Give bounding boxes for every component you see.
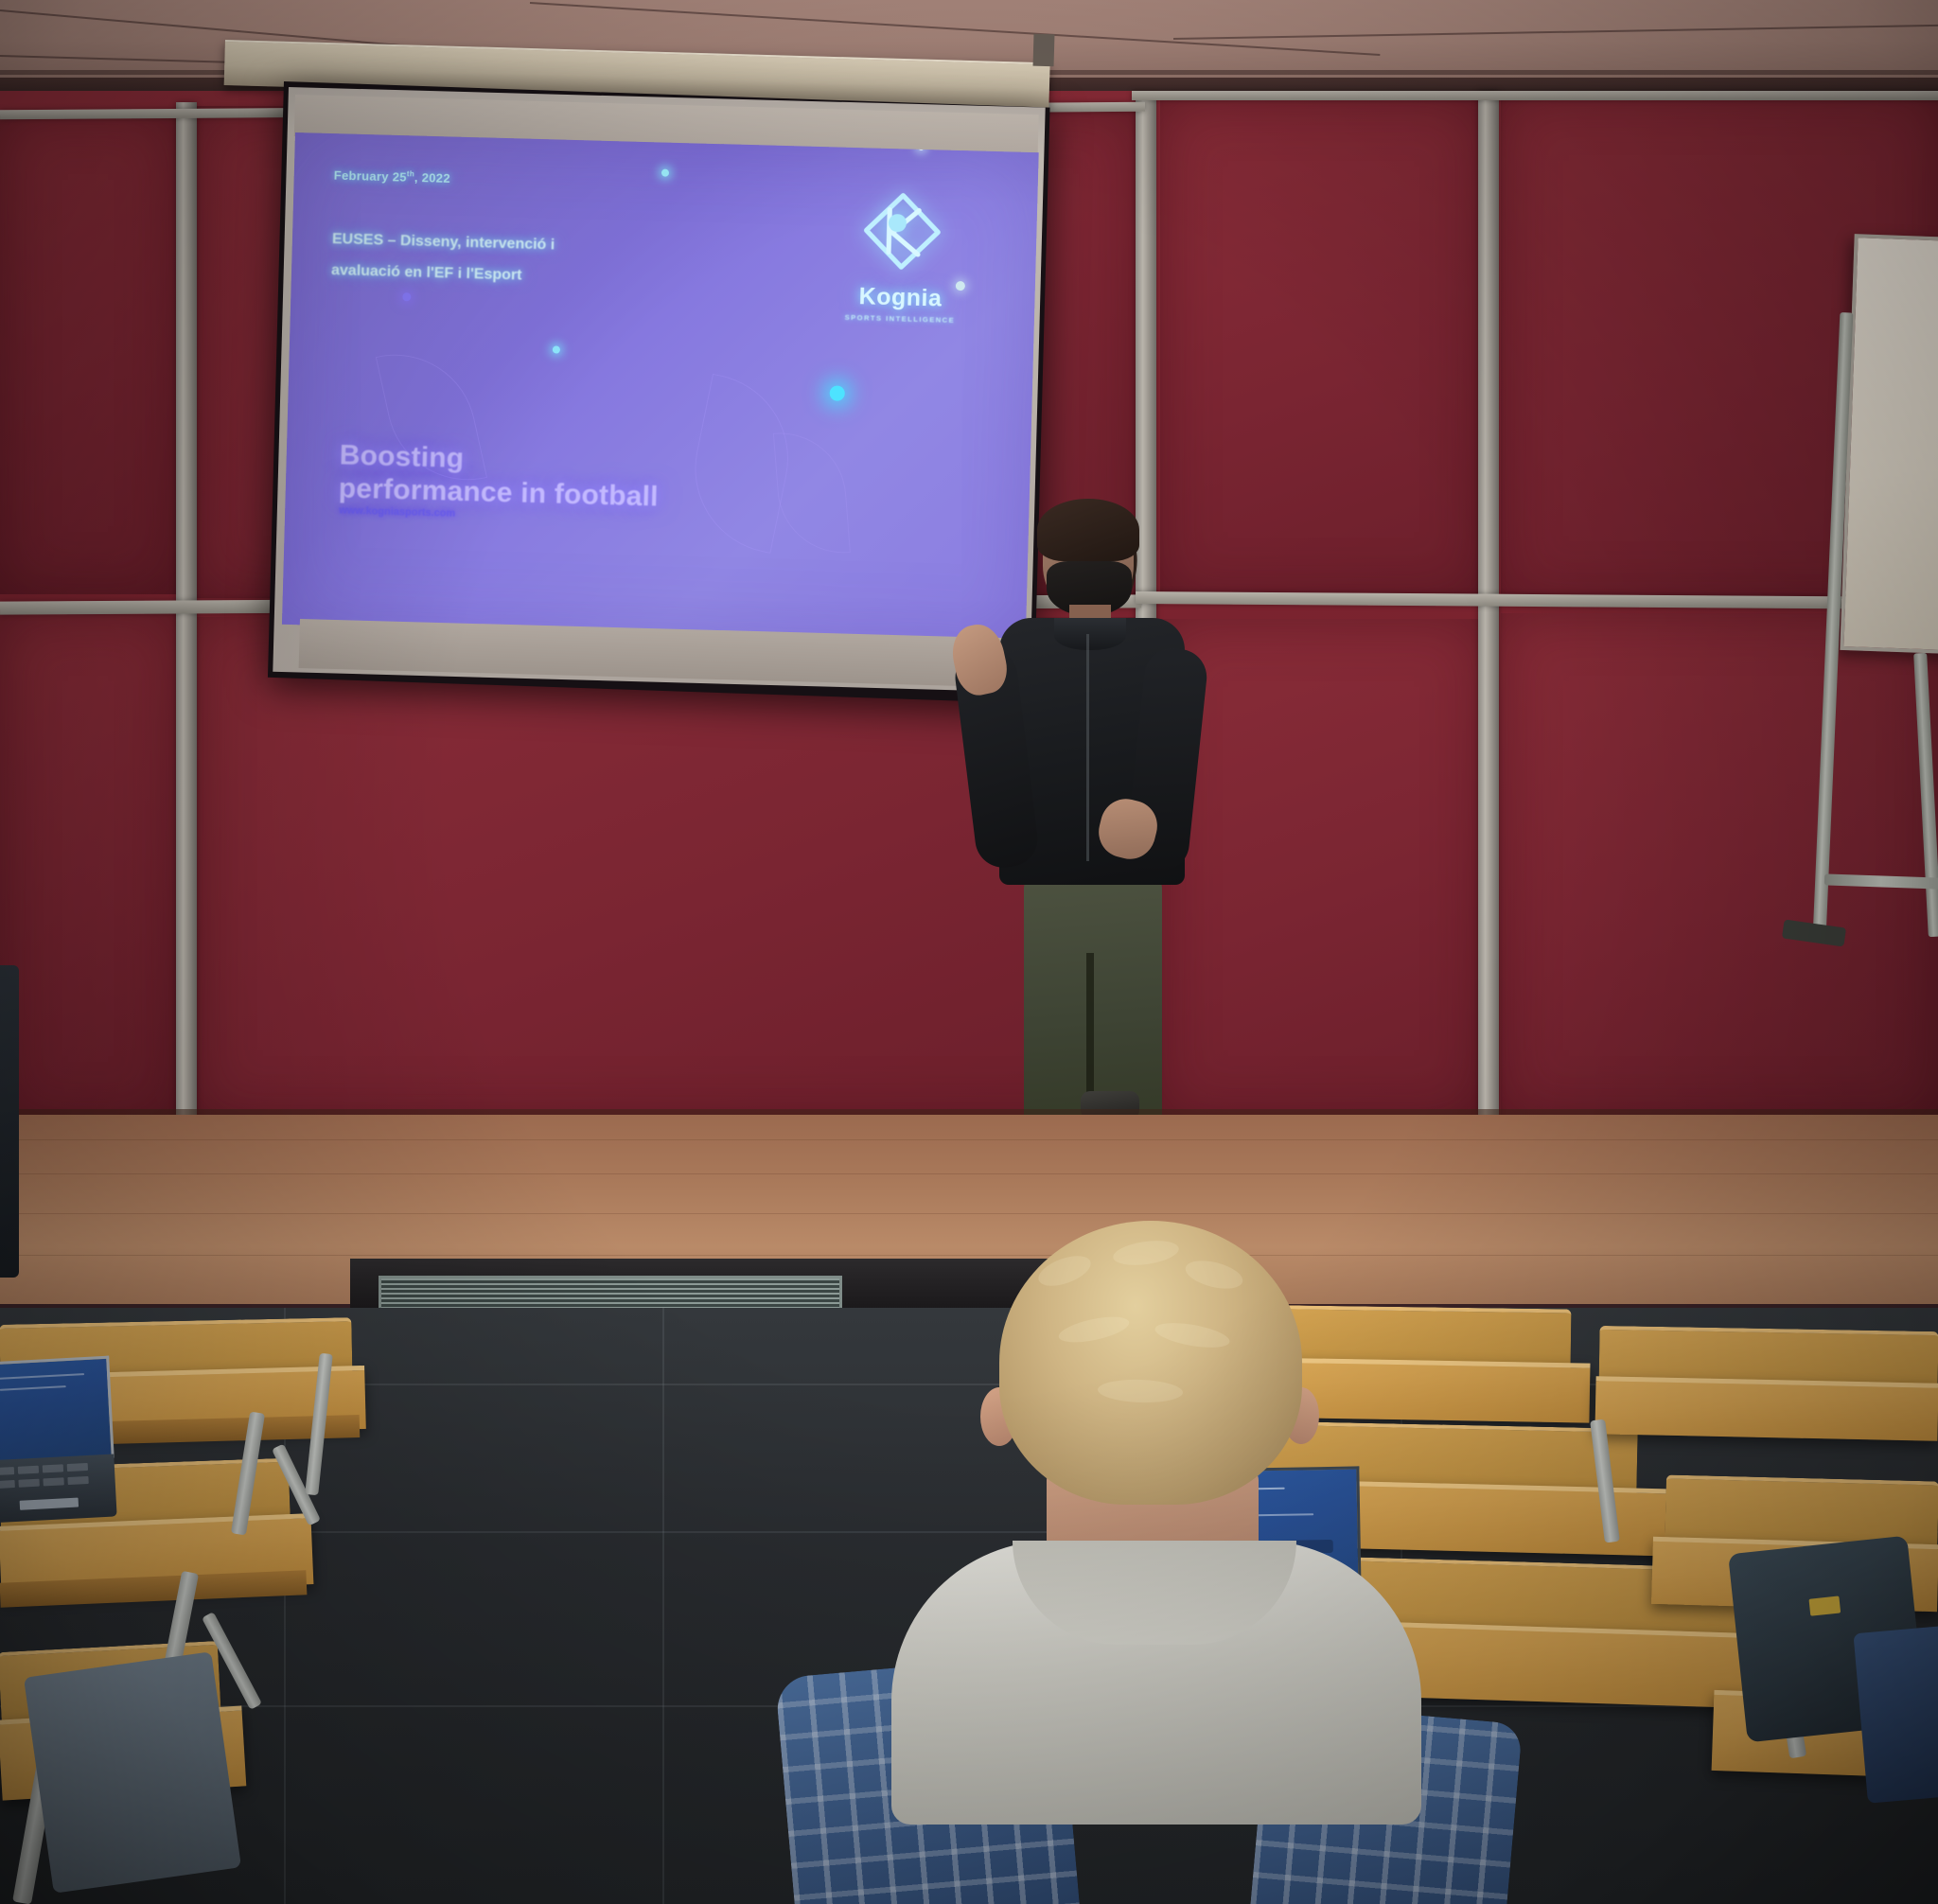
kognia-logo-name: Kognia xyxy=(834,282,967,313)
laptop-keyboard-base[interactable] xyxy=(0,1454,117,1523)
student-hair xyxy=(999,1221,1302,1505)
screen-mount-bracket xyxy=(1033,34,1055,67)
wall-panel xyxy=(1501,613,1938,1119)
presentation-slide: February 25th, 2022 EUSES – Disseny, int… xyxy=(282,132,1039,644)
jacket-zipper xyxy=(1086,634,1089,861)
desk-surface xyxy=(1594,1376,1938,1441)
kognia-diamond-k-icon xyxy=(860,189,943,273)
lecture-hall-photo: February 25th, 2022 EUSES – Disseny, int… xyxy=(0,0,1938,1904)
ceiling-seam xyxy=(1173,25,1938,40)
slide-date-year: , 2022 xyxy=(414,170,450,185)
wood-grain xyxy=(0,1139,1938,1140)
slide-date-text: February 25 xyxy=(334,167,407,184)
slide-headline: Boosting performance in football xyxy=(338,438,660,514)
leaf-shape-icon xyxy=(773,428,851,557)
wood-grain xyxy=(0,1213,1938,1214)
student-seated-foreground xyxy=(814,1221,1495,1904)
glow-dot xyxy=(553,345,560,353)
wall-speaker xyxy=(0,965,19,1278)
slide-url: www.kogniasports.com xyxy=(339,504,455,519)
laptop-blue-screen-left-desk[interactable] xyxy=(0,1356,115,1465)
glow-dot xyxy=(661,168,669,176)
presenter xyxy=(975,506,1221,1150)
whiteboard xyxy=(1840,234,1938,656)
chair-seat-pad[interactable] xyxy=(1853,1622,1938,1804)
chair-seat-pad[interactable] xyxy=(24,1651,241,1894)
kognia-logo: Kognia SPORTS INTELLIGENCE xyxy=(834,189,970,326)
ceiling-seam xyxy=(530,2,1380,56)
kognia-logo-tagline: SPORTS INTELLIGENCE xyxy=(834,312,966,325)
glow-dot xyxy=(402,292,411,301)
backpack-buckle-icon xyxy=(1808,1595,1841,1615)
slide-course-title: EUSES – Disseny, intervenció i avaluació… xyxy=(331,224,645,294)
wall-panel xyxy=(0,613,176,1124)
slide-date: February 25th, 2022 xyxy=(334,167,450,185)
wall-panel xyxy=(0,112,176,594)
tile-joint xyxy=(662,1308,664,1904)
glow-dot-large xyxy=(830,385,845,400)
presenter-jacket-collar xyxy=(1054,618,1126,650)
presenter-hair xyxy=(1037,499,1139,561)
wall-rail-top xyxy=(1132,91,1938,100)
wall-mullion xyxy=(1478,91,1499,1122)
wood-grain xyxy=(0,1173,1938,1174)
